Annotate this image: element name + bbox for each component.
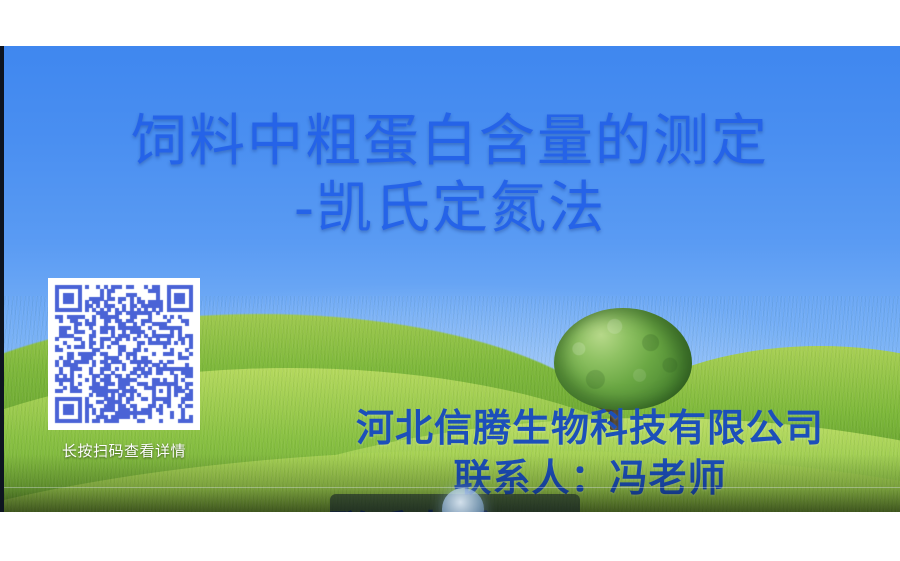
page-root: 饲料中粗蛋白含量的测定 -凯氏定氮法 长按扫码查看详情 河北信腾生物科技有限公司… xyxy=(0,0,900,561)
qr-code-card[interactable] xyxy=(48,278,200,430)
qr-caption: 长按扫码查看详情 xyxy=(48,444,200,461)
tree-canopy xyxy=(554,308,692,410)
tree-icon xyxy=(548,308,698,433)
qr-code-image[interactable] xyxy=(48,278,200,430)
frame-left-border xyxy=(0,46,4,512)
video-poster-frame[interactable]: 饲料中粗蛋白含量的测定 -凯氏定氮法 长按扫码查看详情 河北信腾生物科技有限公司… xyxy=(0,46,900,512)
qr-code-block[interactable]: 长按扫码查看详情 xyxy=(48,278,200,461)
